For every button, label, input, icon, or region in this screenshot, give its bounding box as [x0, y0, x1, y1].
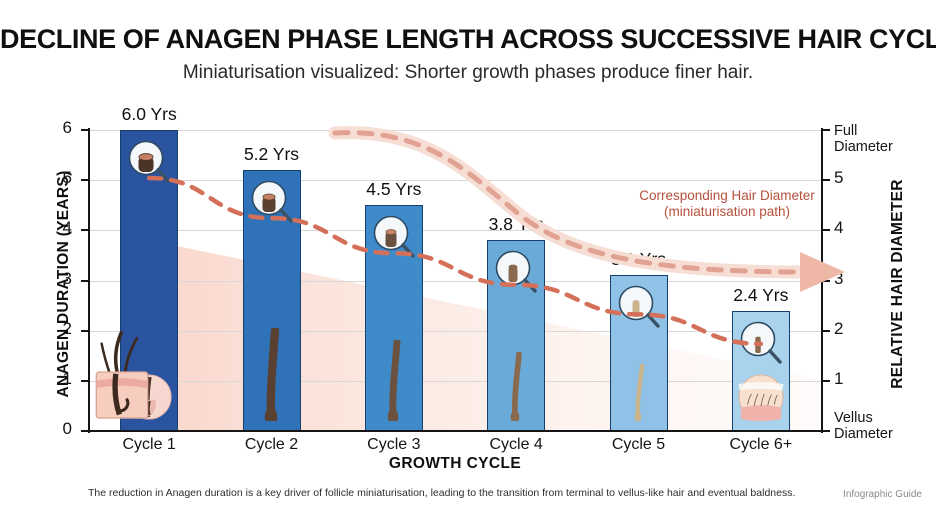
hair-shaft-icon	[502, 352, 530, 421]
bar-magnifier	[614, 282, 664, 337]
footer-note: The reduction in Anagen duration is a ke…	[88, 487, 788, 499]
bar-cycle-6-[interactable]	[732, 311, 790, 431]
y-tick-label-right: 3	[834, 269, 843, 289]
y-tick-left	[81, 280, 88, 282]
x-axis-title: GROWTH CYCLE	[88, 455, 822, 473]
y-tick-right	[823, 280, 830, 282]
y-tick-label-right-line1: Vellus	[834, 410, 873, 426]
footer-credit: Infographic Guide	[843, 489, 922, 500]
y-axis-left-line	[88, 128, 90, 433]
magnifier-icon	[247, 177, 297, 227]
bar-cycle-4[interactable]	[487, 240, 545, 431]
bar-value-label: 2.4 Yrs	[696, 285, 826, 306]
y-tick-label-right: Vellus Diameter	[834, 411, 893, 442]
skin-patch-icon	[737, 373, 785, 421]
origin-follicle-diagram	[91, 328, 153, 429]
y-tick-label-right: 1	[834, 369, 843, 389]
y-tick-label-right-line1: Full	[834, 123, 857, 139]
magnifier-icon	[124, 137, 174, 187]
bar-magnifier	[247, 177, 297, 232]
y-tick-label-right: 2	[834, 319, 843, 339]
y-tick-label-right: 4	[834, 218, 843, 238]
bar-hair-illustration	[255, 328, 289, 426]
y-tick-label-right-line2: Diameter	[834, 426, 893, 442]
bar-hair-illustration	[626, 364, 651, 426]
page-subtitle: Miniaturisation visualized: Shorter grow…	[0, 62, 936, 84]
x-tick-label: Cycle 1	[89, 436, 209, 454]
y-tick-right	[823, 229, 830, 231]
y-tick-right	[823, 430, 830, 432]
trend-annotation: Corresponding Hair Diameter (miniaturisa…	[612, 188, 842, 221]
y-tick-left	[81, 380, 88, 382]
page-title: DECLINE OF ANAGEN PHASE LENGTH ACROSS SU…	[0, 24, 936, 55]
infographic-root: DECLINE OF ANAGEN PHASE LENGTH ACROSS SU…	[0, 0, 936, 510]
y-tick-left	[81, 430, 88, 432]
bar-value-label: 3.1 Yrs	[574, 249, 704, 270]
y-tick-label-left: 6	[42, 118, 72, 138]
magnifier-icon	[491, 247, 541, 297]
bar-hair-illustration	[379, 340, 410, 426]
y-tick-left	[81, 179, 88, 181]
gridline	[88, 331, 822, 332]
y-tick-left	[81, 330, 88, 332]
gridline	[88, 130, 822, 131]
bar-value-label: 4.5 Yrs	[329, 179, 459, 200]
hair-shaft-icon	[379, 340, 410, 421]
bar-cycle-3[interactable]	[365, 205, 423, 431]
bar-magnifier	[736, 318, 786, 373]
x-axis-line	[88, 430, 824, 432]
bar-magnifier	[124, 137, 174, 192]
y-tick-right	[823, 129, 830, 131]
bar-value-label: 6.0 Yrs	[84, 104, 214, 125]
y-tick-label-left: 0	[42, 419, 72, 439]
magnifier-icon	[614, 282, 664, 332]
y-tick-label-right: Full Diameter	[834, 124, 893, 155]
gridline	[88, 381, 822, 382]
x-tick-label: Cycle 4	[456, 436, 576, 454]
y-tick-right	[823, 330, 830, 332]
y-tick-label-right: 5	[834, 168, 843, 188]
bar-skin-patch-illustration	[737, 373, 785, 426]
bar-magnifier	[369, 212, 419, 267]
gridline	[88, 281, 822, 282]
y-tick-label-left: 4	[42, 218, 72, 238]
y-tick-right	[823, 179, 830, 181]
hair-shaft-icon	[626, 364, 651, 421]
y-tick-left	[81, 229, 88, 231]
x-tick-label: Cycle 2	[212, 436, 332, 454]
y-tick-right	[823, 380, 830, 382]
y-tick-label-left: 3	[42, 269, 72, 289]
x-tick-label: Cycle 5	[579, 436, 699, 454]
y-tick-left	[81, 129, 88, 131]
bar-hair-illustration	[502, 352, 530, 426]
plot-area	[88, 130, 822, 431]
y-tick-label-left: 5	[42, 168, 72, 188]
x-tick-label: Cycle 3	[334, 436, 454, 454]
follicle-diagram-icon	[91, 328, 153, 424]
bar-magnifier	[491, 247, 541, 302]
y-tick-label-left: 1	[42, 369, 72, 389]
magnifier-icon	[736, 318, 786, 368]
annotation-line-1: Corresponding Hair Diameter	[639, 188, 815, 203]
hair-shaft-icon	[255, 328, 289, 421]
bar-value-label: 5.2 Yrs	[207, 144, 337, 165]
magnifier-icon	[369, 212, 419, 262]
y-tick-label-left: 2	[42, 319, 72, 339]
y-axis-right-title: RELATIVE HAIR DIAMETER	[889, 124, 907, 444]
bar-cycle-5[interactable]	[610, 275, 668, 431]
bar-value-label: 3.8 Yrs	[451, 214, 581, 235]
y-tick-label-right-line2: Diameter	[834, 139, 893, 155]
bar-cycle-2[interactable]	[243, 170, 301, 431]
annotation-line-2: (miniaturisation path)	[664, 204, 790, 219]
x-tick-label: Cycle 6+	[701, 436, 821, 454]
